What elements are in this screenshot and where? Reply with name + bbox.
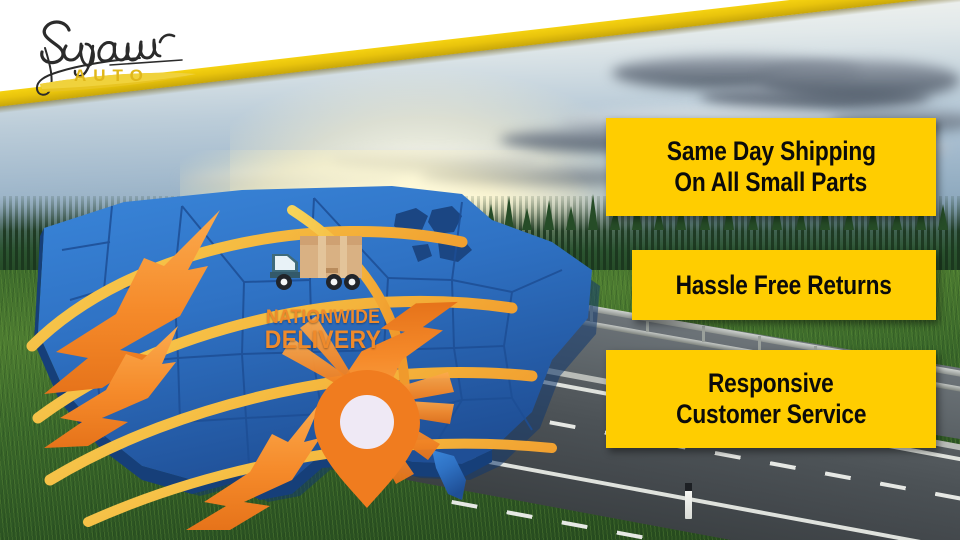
brand-logo[interactable]: AUTO (14, 8, 214, 100)
callout-line: Customer Service (676, 399, 866, 430)
banner-stage: NATIONWIDE DELIVERY (0, 0, 960, 540)
logo-auto-text: AUTO (74, 66, 150, 86)
callout-responsive-customer-service[interactable]: Responsive Customer Service (606, 350, 936, 448)
map-delivery-label: NATIONWIDE DELIVERY (258, 308, 388, 353)
callout-same-day-shipping[interactable]: Same Day Shipping On All Small Parts (606, 118, 936, 216)
map-label-line-2: DELIVERY (263, 328, 383, 353)
delivery-truck-icon (268, 232, 368, 300)
callout-line: On All Small Parts (675, 167, 868, 198)
callout-line: Responsive (708, 368, 834, 399)
road-marker-top (685, 483, 692, 491)
map-label-line-1: NATIONWIDE (263, 308, 383, 327)
cloud (760, 60, 960, 100)
callout-line: Hassle Free Returns (676, 270, 892, 301)
callout-hassle-free-returns[interactable]: Hassle Free Returns (632, 250, 936, 320)
callout-line: Same Day Shipping (667, 136, 876, 167)
map-pin-icon (314, 370, 420, 508)
